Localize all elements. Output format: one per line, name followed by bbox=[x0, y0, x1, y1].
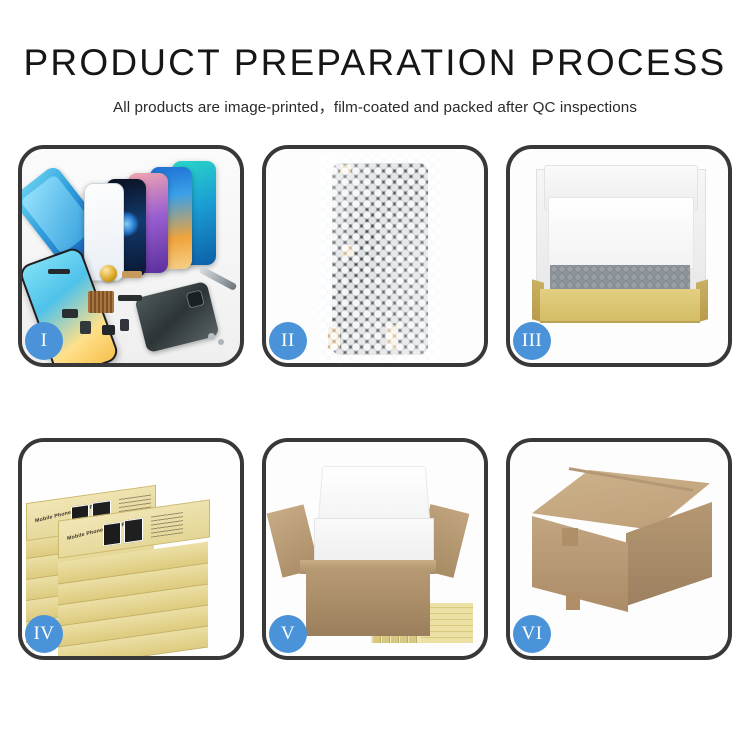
bubble-wrap-sheen bbox=[318, 155, 442, 363]
phone-screen-fan bbox=[84, 161, 234, 281]
speaker-coil-part bbox=[100, 265, 117, 282]
carton-tape-patch bbox=[566, 594, 580, 610]
box-front-panel bbox=[540, 289, 700, 323]
screw-part bbox=[208, 333, 215, 340]
process-steps-grid: I II III bbox=[18, 145, 732, 660]
step-panel-4: Mobile Phone Spare Parts Mobile Phone Sp… bbox=[18, 438, 244, 660]
box-spec-lines bbox=[151, 511, 183, 537]
step-panel-1: I bbox=[18, 145, 244, 367]
screw-part bbox=[218, 339, 224, 345]
step-badge-5: V bbox=[269, 615, 307, 653]
step-badge-6: VI bbox=[513, 615, 551, 653]
page-title: PRODUCT PREPARATION PROCESS bbox=[0, 0, 750, 84]
step-badge-3: III bbox=[513, 322, 551, 360]
flex-cable-part bbox=[80, 321, 91, 334]
carton-tape-patch bbox=[562, 528, 578, 546]
box-phone-image bbox=[103, 522, 121, 547]
box-phone-image bbox=[124, 518, 143, 544]
flex-cable-part bbox=[62, 309, 78, 318]
step-badge-2: II bbox=[269, 322, 307, 360]
step-panel-5: V bbox=[262, 438, 488, 660]
flex-cable-part bbox=[120, 319, 129, 331]
step-panel-2: II bbox=[262, 145, 488, 367]
bubble-wrap-fill bbox=[550, 265, 690, 291]
step-panel-3: III bbox=[506, 145, 732, 367]
flex-cable-part bbox=[102, 325, 115, 335]
flex-cable-part bbox=[122, 271, 142, 278]
step-badge-1: I bbox=[25, 322, 63, 360]
carton-body bbox=[306, 570, 430, 636]
flex-cable-part bbox=[48, 269, 70, 274]
step-badge-4: IV bbox=[25, 615, 63, 653]
page-header: PRODUCT PREPARATION PROCESS All products… bbox=[0, 0, 750, 117]
page-subtitle: All products are image-printed，film-coat… bbox=[0, 84, 750, 117]
foam-sheet bbox=[548, 197, 694, 269]
copper-grid-part bbox=[88, 291, 114, 313]
box-stack-front: Mobile Phone Spare Parts bbox=[58, 510, 208, 650]
foam-box-lid bbox=[317, 466, 430, 524]
step-panel-6: VI bbox=[506, 438, 732, 660]
flex-cable-part bbox=[118, 295, 142, 301]
